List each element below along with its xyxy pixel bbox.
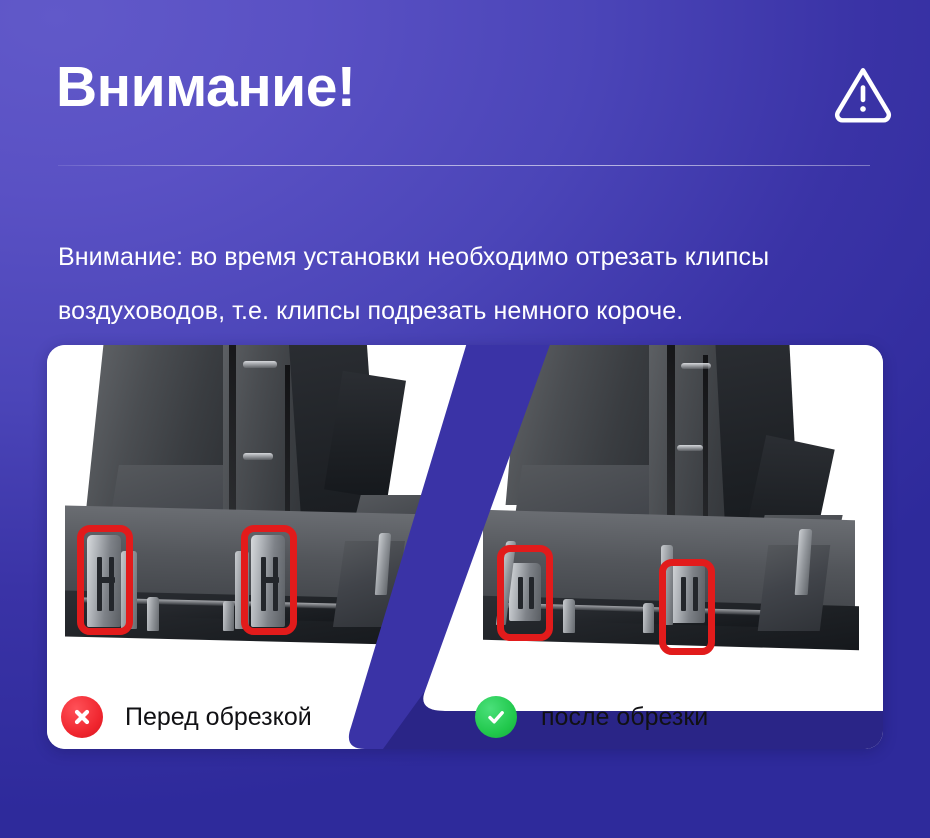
clip-highlight-box <box>241 525 297 635</box>
label-before-trimming: Перед обрезкой <box>47 685 461 749</box>
comparison-card: Перед обрезкой после обрезки VS <box>47 345 883 749</box>
photo-before-trimming <box>47 345 477 685</box>
warning-triangle-icon <box>832 62 894 124</box>
air-duct-part-after <box>453 345 883 685</box>
header-divider <box>58 165 870 166</box>
label-after-text: после обрезки <box>541 703 708 732</box>
page-title: Внимание! <box>56 57 355 117</box>
cross-icon <box>61 696 103 738</box>
photo-after-trimming <box>453 345 883 685</box>
label-after-trimming: после обрезки <box>453 685 883 749</box>
label-before-text: Перед обрезкой <box>125 703 312 732</box>
clip-highlight-box <box>659 559 715 655</box>
clip-highlight-box <box>497 545 553 641</box>
check-icon <box>475 696 517 738</box>
warning-infographic: Внимание! Внимание: во время установки н… <box>0 0 930 838</box>
clip-highlight-box <box>77 525 133 635</box>
air-duct-part-before <box>47 345 477 685</box>
header: Внимание! <box>0 0 930 166</box>
warning-body-text: Внимание: во время установки необходимо … <box>58 230 888 338</box>
